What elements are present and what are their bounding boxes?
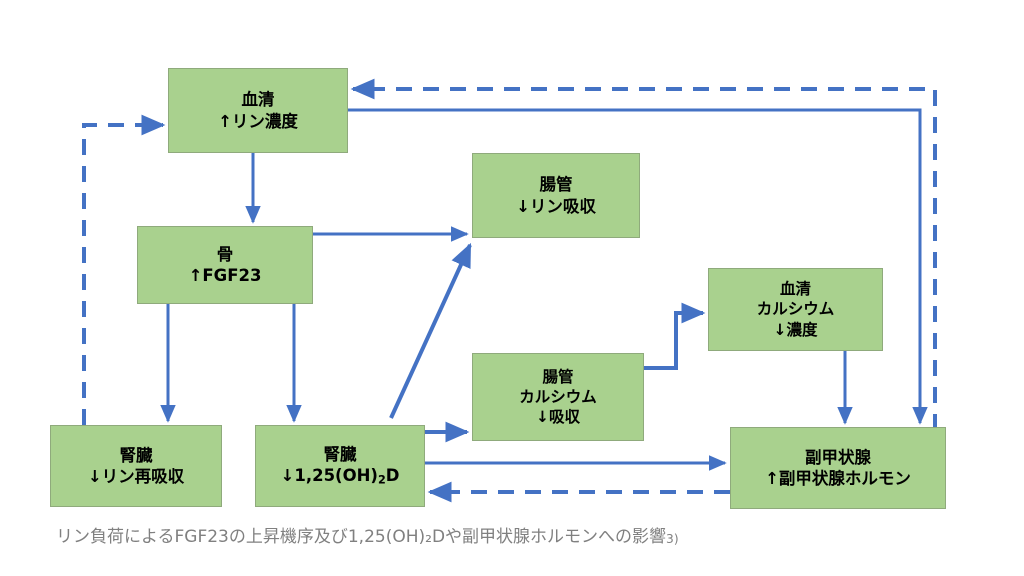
intestine-calcium-line-2: カルシウム: [519, 387, 597, 407]
kidney-vitd-line-2-prefix: ↓1,25(OH): [281, 466, 378, 485]
serum-calcium-line-3: ↓濃度: [774, 320, 818, 340]
diagram-canvas: 血清 ↑リン濃度 骨 ↑FGF23 腸管 ↓リン吸収 血清 カルシウム ↓濃度 …: [0, 0, 1024, 576]
intestine-phosphate-line-2: ↓リン吸収: [516, 196, 596, 217]
kidney-vitd-line-2: ↓1,25(OH)2D: [281, 465, 400, 488]
kidney-vitd-line-2-suffix: D: [386, 466, 400, 485]
intestine-phosphate-absorption-node[interactable]: 腸管 ↓リン吸収: [472, 153, 640, 238]
edge-parathyroid-to-serum-phosphate-dashed: [353, 89, 935, 430]
serum-phosphate-line-1: 血清: [242, 89, 275, 110]
kidney-vitd-line-1: 腎臓: [324, 444, 357, 465]
serum-phosphate-node[interactable]: 血清 ↑リン濃度: [168, 68, 348, 153]
bone-fgf23-line-1: 骨: [217, 244, 234, 265]
intestine-phosphate-line-1: 腸管: [540, 174, 573, 195]
serum-calcium-line-1: 血清: [780, 279, 811, 299]
kidney-vitd-line-2-subscript: 2: [378, 474, 386, 487]
parathyroid-node[interactable]: 副甲状腺 ↑副甲状腺ホルモン: [730, 427, 946, 509]
edge-kidney-vitd-to-intestine-phosphate: [391, 245, 470, 418]
figure-caption: リン負荷によるFGF23の上昇機序及び1,25(OH)₂Dや副甲状腺ホルモンへの…: [56, 522, 679, 547]
bone-fgf23-node[interactable]: 骨 ↑FGF23: [137, 226, 313, 304]
kidney-phosphate-line-1: 腎臓: [120, 445, 153, 466]
figure-caption-reference: 3): [666, 532, 679, 546]
kidney-phosphate-line-2: ↓リン再吸収: [88, 466, 184, 487]
bone-fgf23-line-2: ↑FGF23: [189, 265, 262, 286]
intestine-calcium-line-1: 腸管: [542, 367, 573, 387]
kidney-vitamin-d-node[interactable]: 腎臓 ↓1,25(OH)2D: [255, 425, 425, 507]
parathyroid-line-2: ↑副甲状腺ホルモン: [765, 468, 911, 489]
figure-caption-text: リン負荷によるFGF23の上昇機序及び1,25(OH)₂Dや副甲状腺ホルモンへの…: [56, 527, 666, 547]
kidney-phosphate-reabsorption-node[interactable]: 腎臓 ↓リン再吸収: [50, 425, 222, 507]
edge-intestine-calcium-to-serum-calcium: [644, 313, 703, 368]
serum-calcium-node[interactable]: 血清 カルシウム ↓濃度: [708, 268, 883, 351]
serum-calcium-line-2: カルシウム: [757, 299, 835, 319]
intestine-calcium-line-3: ↓吸収: [536, 407, 580, 427]
serum-phosphate-line-2: ↑リン濃度: [218, 111, 298, 132]
parathyroid-line-1: 副甲状腺: [805, 447, 871, 468]
intestine-calcium-absorption-node[interactable]: 腸管 カルシウム ↓吸収: [472, 353, 644, 441]
